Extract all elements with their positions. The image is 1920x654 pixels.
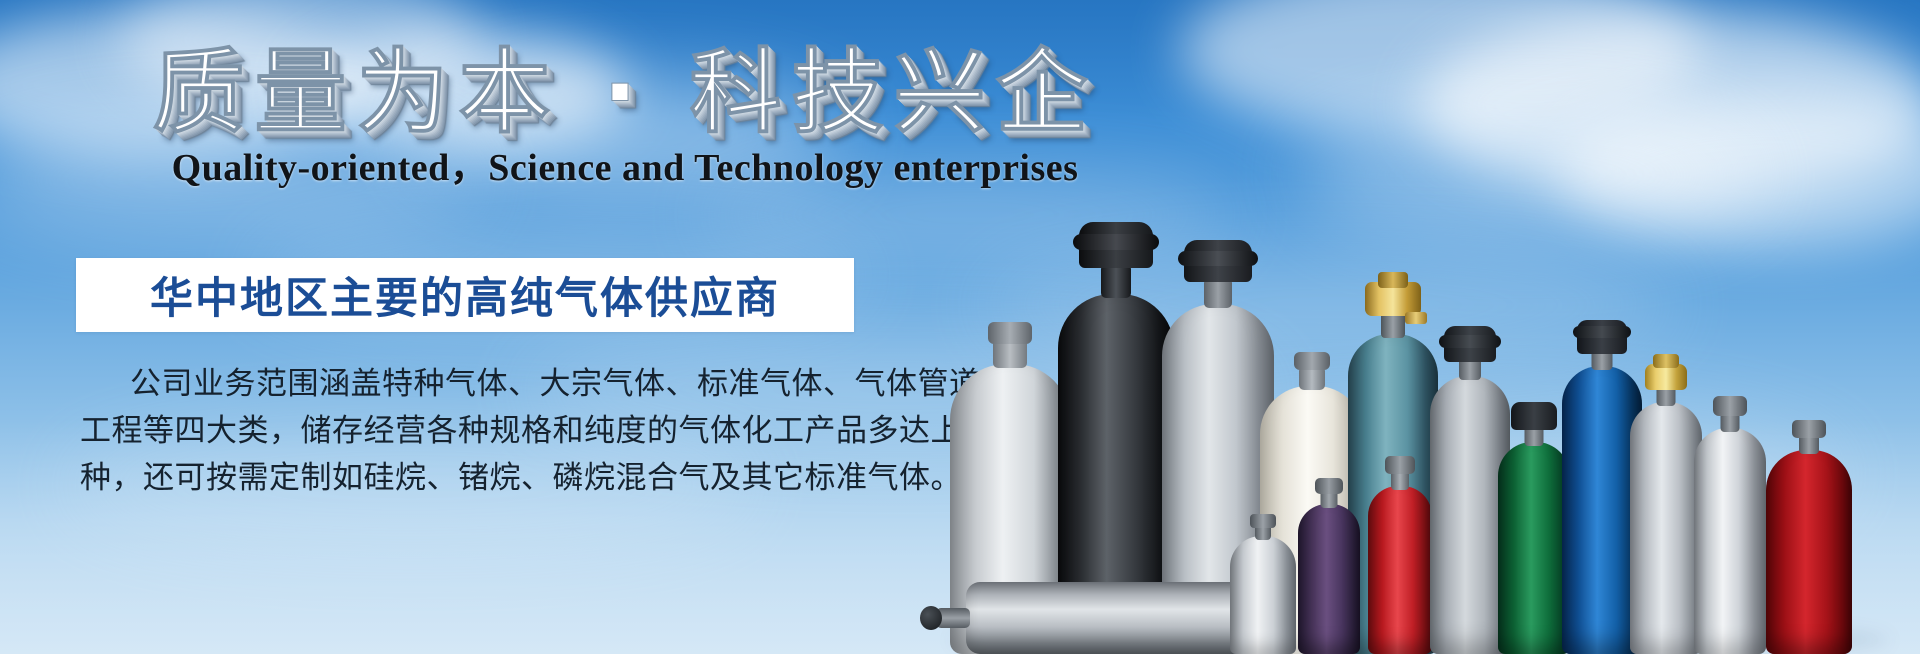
slogan-text: 华中地区主要的高纯气体供应商 [150, 264, 780, 326]
cylinder-silver [1694, 394, 1766, 654]
paragraph-line: 种，还可按需定制如硅烷、锗烷、磷烷混合气及其它标准气体。 [80, 454, 870, 501]
cylinder-aluminium [1630, 344, 1702, 654]
cylinder-dark-red [1766, 416, 1852, 654]
paragraph-line: 公司业务范围涵盖特种气体、大宗气体、标准气体、气体管道 [80, 360, 870, 407]
cylinder-purple-small [1298, 474, 1360, 654]
banner-paragraph: 公司业务范围涵盖特种气体、大宗气体、标准气体、气体管道 工程等四大类，储存经营各… [80, 360, 870, 501]
paragraph-line: 工程等四大类，储存经营各种规格和纯度的气体化工产品多达上百 [80, 407, 870, 454]
hero-banner: 质量为本 · 科技兴企 Quality-oriented，Science and… [0, 0, 1920, 654]
slogan-box: 华中地区主要的高纯气体供应商 [76, 258, 854, 332]
gas-cylinder-group [930, 150, 1920, 654]
cloud-shape [1180, 0, 1700, 140]
bottle-small-silver [1230, 514, 1296, 654]
lying-cylinder-knob [920, 606, 942, 630]
cylinder-green [1498, 404, 1570, 654]
cylinder-red-small [1368, 454, 1432, 654]
banner-headline: 质量为本 · 科技兴企 [0, 18, 1250, 151]
